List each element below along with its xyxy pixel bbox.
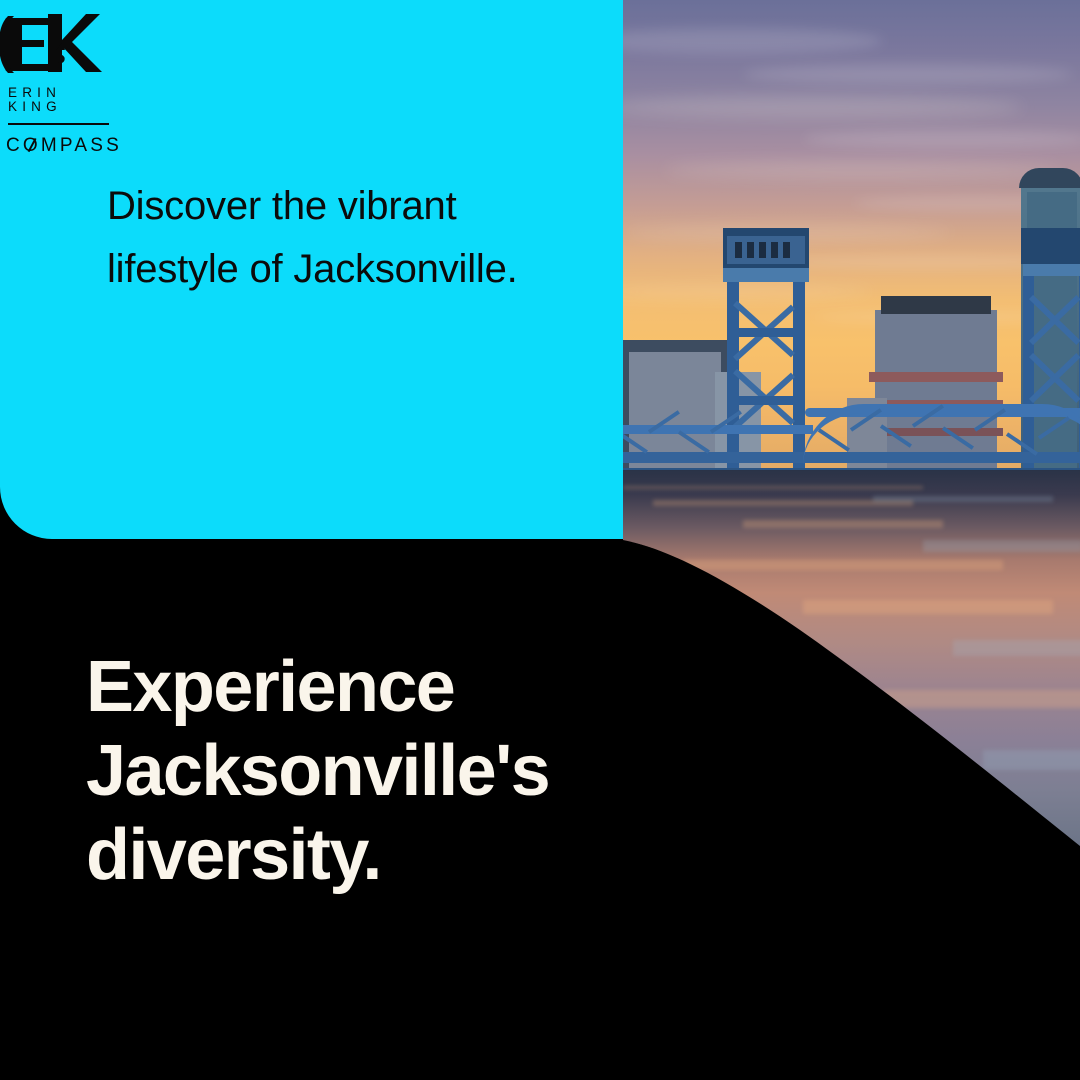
- brand-logo-block[interactable]: ERIN KING COMPASS: [0, 12, 118, 155]
- affiliation-before: C: [6, 136, 23, 155]
- ek-monogram-icon: [0, 12, 118, 74]
- brand-affiliation: COMPASS: [6, 136, 118, 155]
- logo-divider: [8, 123, 109, 125]
- subheadline-line-1: Discover the vibrant: [107, 184, 456, 228]
- subheadline-line-3: Jacksonville.: [293, 247, 517, 291]
- headline-line-3: diversity.: [86, 813, 726, 897]
- subheadline-line-2: lifestyle of: [107, 247, 282, 291]
- affiliation-after: MPASS: [41, 136, 122, 155]
- headline-line-2: Jacksonville's: [86, 729, 726, 813]
- cyan-info-panel: ERIN KING COMPASS Discover the vibrant l…: [0, 0, 623, 539]
- poster-canvas: ERIN KING COMPASS Discover the vibrant l…: [0, 0, 1080, 1080]
- subheadline: Discover the vibrant lifestyle of Jackso…: [107, 175, 577, 301]
- headline-line-1: Experience: [86, 645, 726, 729]
- main-headline: Experience Jacksonville's diversity.: [86, 645, 726, 898]
- brand-name: ERIN KING: [8, 86, 118, 113]
- affiliation-slashed-o: O: [23, 136, 41, 155]
